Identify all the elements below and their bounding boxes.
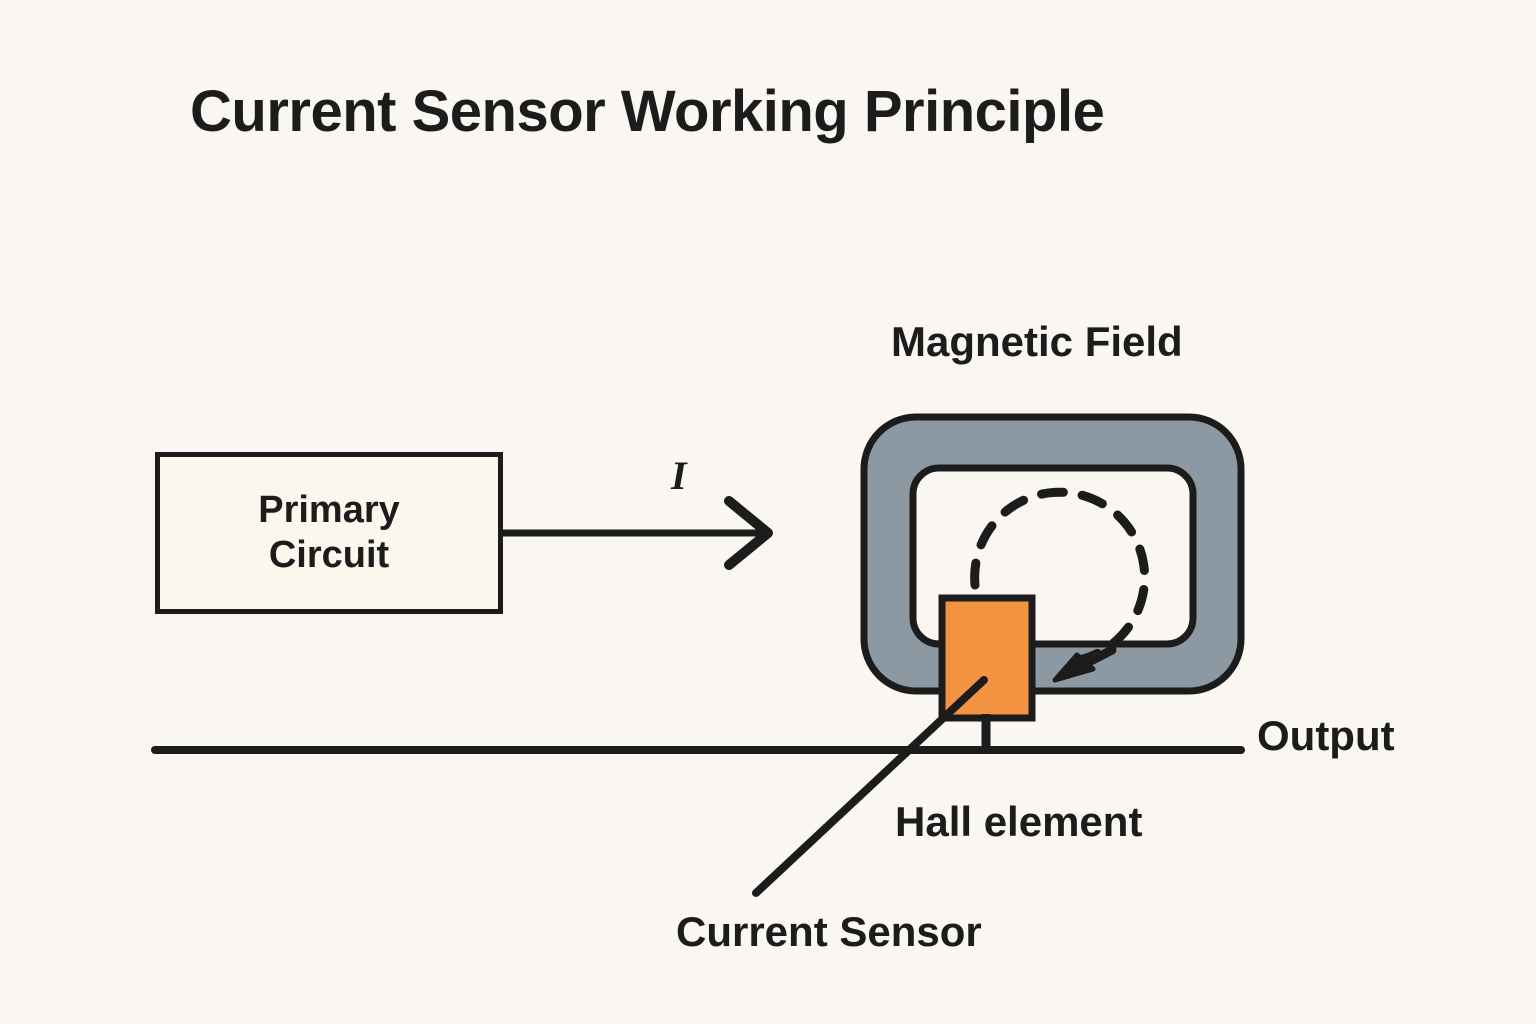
output-label: Output xyxy=(1257,712,1395,760)
magnetic-core xyxy=(864,417,1241,691)
current-symbol-label: I xyxy=(671,452,687,499)
primary-circuit-block: Primary Circuit xyxy=(155,452,503,614)
primary-current-wire xyxy=(503,501,768,565)
output-connection xyxy=(155,714,1241,750)
primary-circuit-label: Primary Circuit xyxy=(258,488,400,578)
hall-element-block xyxy=(942,598,1032,718)
current-sensor-label: Current Sensor xyxy=(676,908,982,956)
hall-element-rect xyxy=(942,598,1032,718)
current-sensor-leader-line xyxy=(756,680,984,893)
magnetic-field-label: Magnetic Field xyxy=(891,318,1183,366)
hall-element-label: Hall element xyxy=(895,798,1142,846)
diagram-canvas: Current Sensor Working Principle Primary… xyxy=(0,0,1536,1024)
current-sensor-leader xyxy=(756,680,984,893)
page-title: Current Sensor Working Principle xyxy=(190,78,1104,145)
